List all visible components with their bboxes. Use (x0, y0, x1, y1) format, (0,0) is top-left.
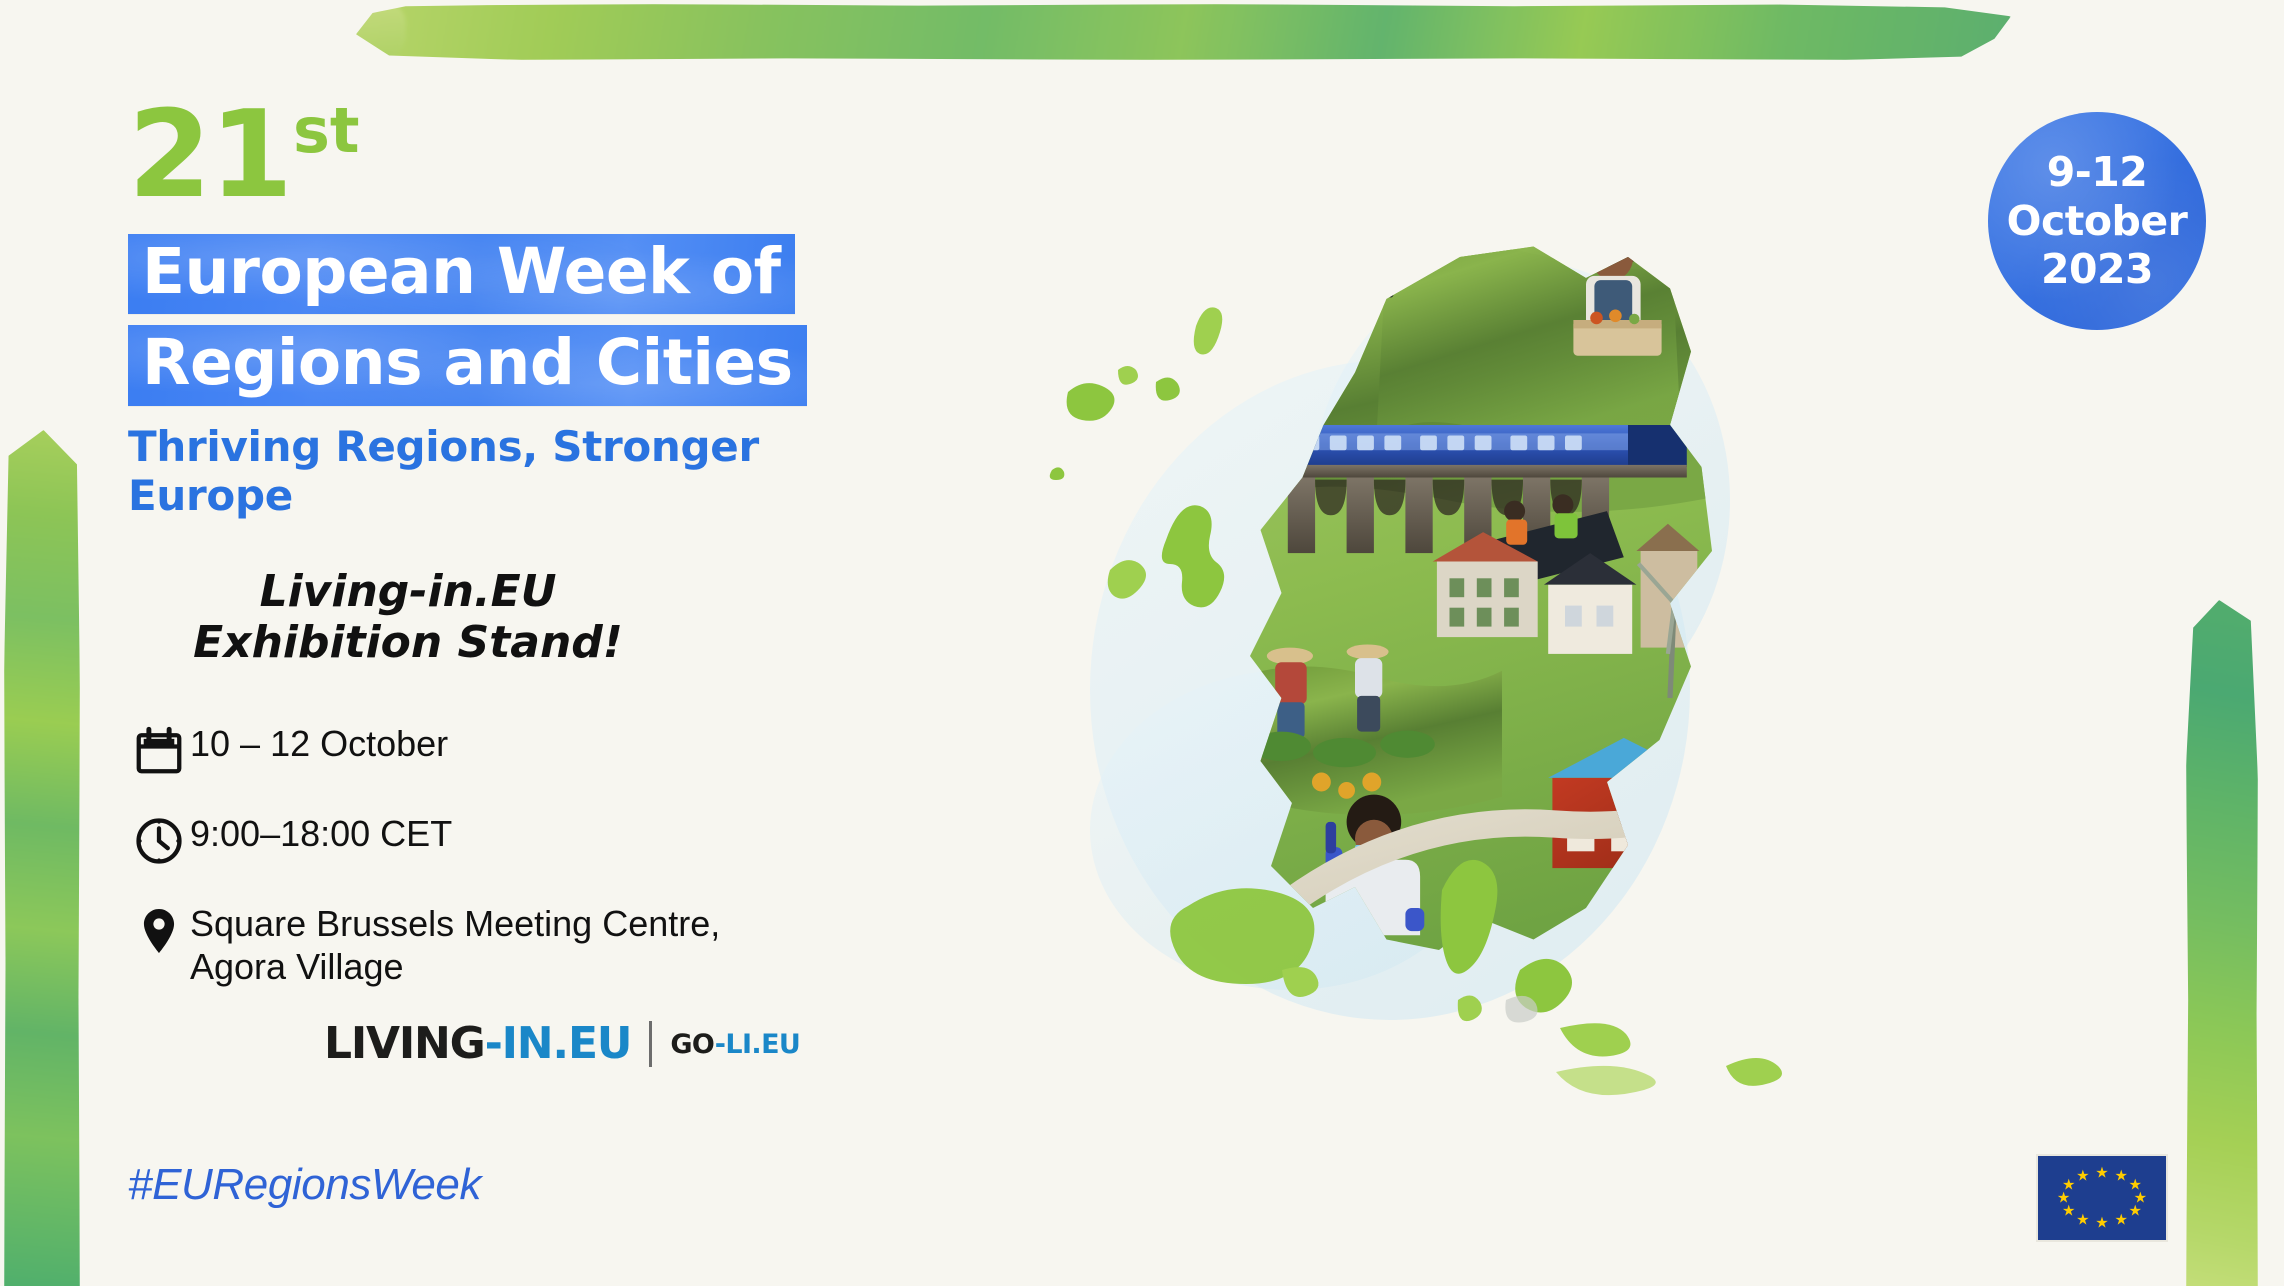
event-details-list: 10 – 12 October 9:00–18:00 CET (128, 720, 928, 990)
event-title: European Week of Regions and Cities (128, 234, 928, 406)
exhibition-subtitle: Living-in.EU Exhibition Stand! (128, 566, 688, 668)
eu-flag-star: ★ (2114, 1169, 2127, 1184)
detail-row-time: 9:00–18:00 CET (128, 810, 928, 868)
ordinal-number: 21 (128, 86, 291, 225)
eu-flag-star: ★ (2062, 1178, 2075, 1193)
date-badge-line-1: 9-12 (2047, 148, 2148, 196)
edition-ordinal: 21st (128, 96, 928, 208)
event-tagline: Thriving Regions, Stronger Europe (128, 422, 928, 520)
eu-flag-star: ★ (2095, 1165, 2108, 1180)
svg-text:H: H (1170, 1056, 1191, 1089)
go-li-eu-wordmark: GO-LI.EU (670, 1031, 800, 1058)
living-in-eu-logo[interactable]: LIVING-IN.EU GO-LI.EU (324, 1021, 928, 1067)
green-brush-top (356, 4, 2011, 60)
eu-flag-star: ★ (2076, 1212, 2089, 1227)
european-union-flag: ★★★★★★★★★★★★ (2036, 1154, 2168, 1242)
detail-time-text: 9:00–18:00 CET (190, 810, 452, 856)
left-content-column: 21st European Week of Regions and Cities… (128, 96, 928, 1067)
logo-divider (649, 1021, 652, 1067)
date-badge-line-3: 2023 (2041, 245, 2153, 293)
detail-location-text: Square Brussels Meeting Centre, Agora Vi… (190, 900, 720, 990)
living-in-eu-wordmark: LIVING-IN.EU (324, 1022, 631, 1066)
calendar-icon (128, 720, 190, 778)
go-li-eu-wordmark-dark: GO (670, 1029, 714, 1060)
eu-flag-star: ★ (2129, 1203, 2142, 1218)
europe-photo-collage-map: H (960, 70, 1840, 1150)
living-in-eu-wordmark-dark: LIVING (324, 1018, 485, 1069)
scene-researcher-outdoors (1166, 1139, 1282, 1150)
eu-flag-star: ★ (2095, 1216, 2108, 1231)
green-brush-right (2186, 600, 2258, 1286)
ordinal-suffix: st (293, 94, 360, 167)
location-pin-icon (128, 900, 190, 958)
scene-hospital-building: H (1158, 1009, 1324, 1118)
living-in-eu-wordmark-blue: -IN.EU (485, 1018, 632, 1069)
detail-row-location: Square Brussels Meeting Centre, Agora Vi… (128, 900, 928, 990)
scene-woman-reading-poster (1479, 1042, 1599, 1150)
eu-flag-star: ★ (2114, 1212, 2127, 1227)
event-title-line-1: European Week of (128, 234, 795, 314)
go-li-eu-wordmark-blue: -LI.EU (715, 1029, 800, 1060)
event-banner: 21st European Week of Regions and Cities… (0, 0, 2284, 1286)
date-badge-line-2: October (2007, 197, 2188, 245)
event-title-line-2: Regions and Cities (128, 325, 807, 405)
date-badge: 9-12 October 2023 (1988, 112, 2206, 330)
event-hashtag[interactable]: #EURegionsWeek (128, 1160, 481, 1210)
green-brush-left (4, 430, 80, 1286)
clock-icon (128, 810, 190, 868)
detail-date-text: 10 – 12 October (190, 720, 448, 766)
eu-flag-star: ★ (2076, 1169, 2089, 1184)
detail-row-date: 10 – 12 October (128, 720, 928, 778)
scene-business-people-at-desk (1591, 1113, 1708, 1150)
